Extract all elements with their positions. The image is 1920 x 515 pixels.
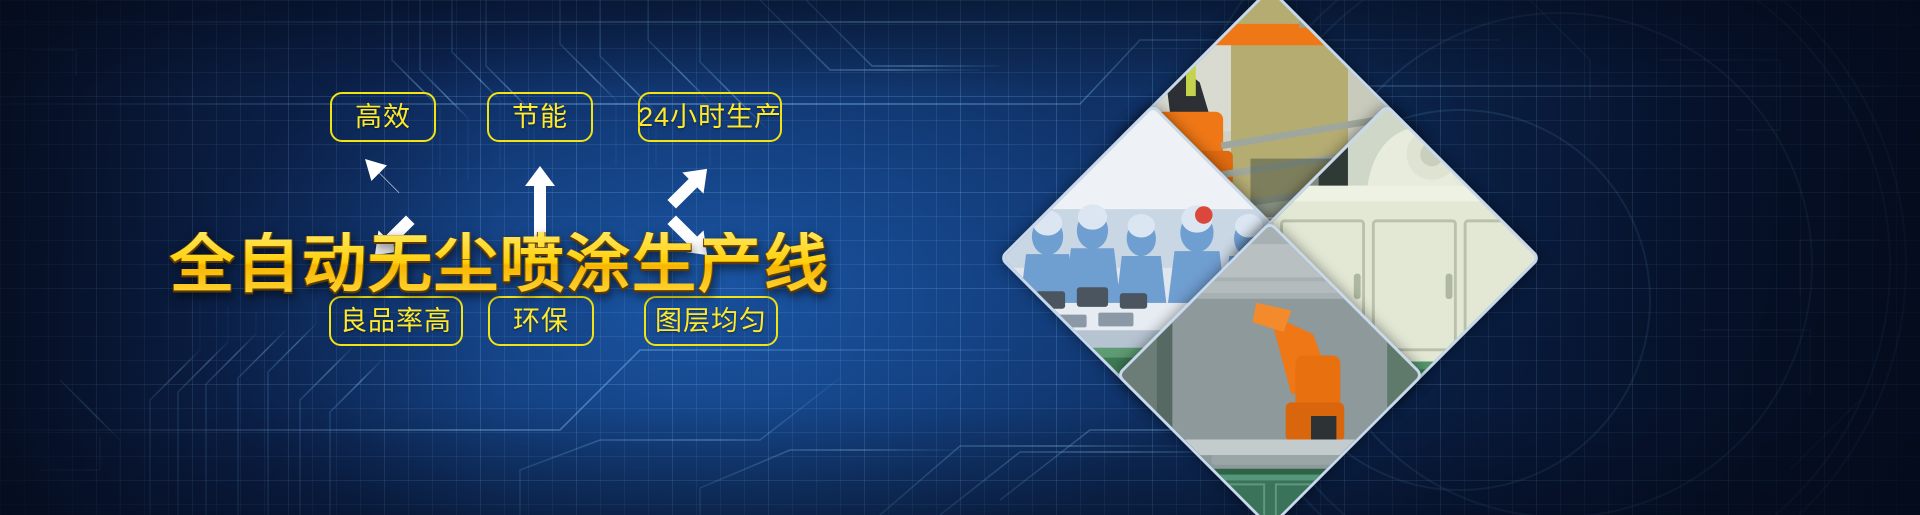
photo-collage <box>1040 28 1500 488</box>
arrow-up-right <box>661 158 718 215</box>
arrow-up-left <box>357 151 406 200</box>
feature-diagram: 高效 节能 24小时生产 良品率高 环保 图层均匀 <box>0 0 1000 515</box>
page-title: 全自动无尘喷涂生产线 <box>0 232 1000 296</box>
banner: 高效 节能 24小时生产 良品率高 环保 图层均匀 <box>0 0 1920 515</box>
